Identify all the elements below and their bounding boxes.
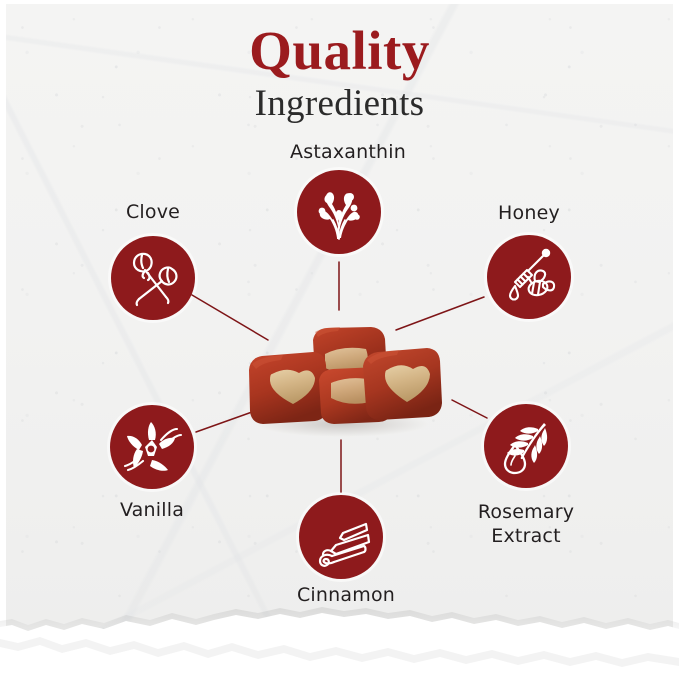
ingredient-label-cinnamon: Cinnamon [251,583,441,607]
honey-badge[interactable] [487,235,571,319]
ingredient-label-rosemary: Rosemary Extract [431,500,621,548]
clove-badge[interactable] [111,236,195,320]
gummy-left [249,352,328,424]
vanilla-flower-icon [121,416,183,478]
title-line-quality: Quality [0,22,679,80]
title-line-ingredients: Ingredients [0,82,679,126]
ingredient-label-vanilla: Vanilla [57,498,247,522]
algae-icon [308,181,370,243]
rosemary-sprig-icon [495,415,557,477]
honey-dipper-bee-icon [498,246,560,308]
cinnamon-badge[interactable] [299,495,383,579]
rosemary-badge[interactable] [484,404,568,488]
ingredient-label-honey: Honey [434,201,624,225]
product-gummies [235,318,450,438]
page-title: Quality Ingredients [0,22,679,126]
astaxanthin-badge[interactable] [297,170,381,254]
cinnamon-sticks-icon [310,506,372,568]
ingredient-label-clove: Clove [58,200,248,224]
clove-buds-icon [122,247,184,309]
vanilla-badge[interactable] [110,405,194,489]
quality-ingredients-infographic: Quality Ingredients [0,0,679,673]
ingredient-label-astaxanthin: Astaxanthin [253,140,443,164]
gummy-right [363,348,442,420]
